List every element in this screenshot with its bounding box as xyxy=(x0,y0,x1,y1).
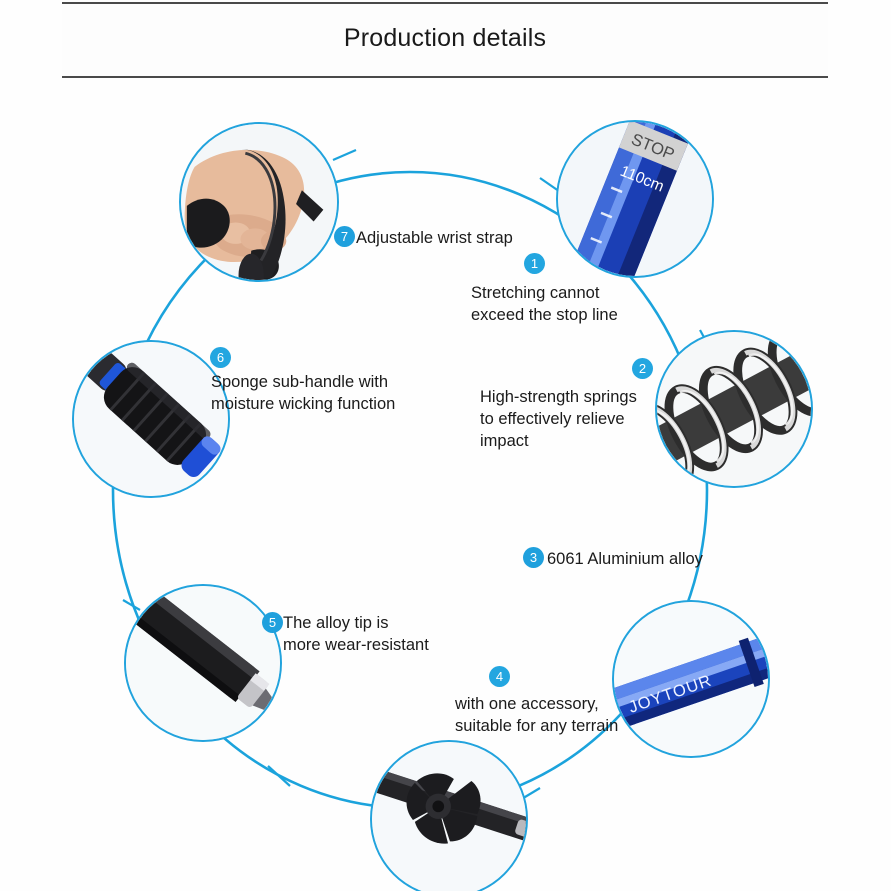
photo-terrain-basket xyxy=(370,740,528,891)
photo-stop-line: STOP 110cm xyxy=(556,120,714,278)
photo-stop-line-image: STOP 110cm xyxy=(558,122,712,276)
badge-2: 2 xyxy=(632,358,653,379)
photo-alloy-tip-image xyxy=(126,586,280,740)
photo-terrain-basket-image xyxy=(372,742,526,891)
callout-6: Sponge sub-handle with moisture wicking … xyxy=(211,371,441,415)
page-header: Production details xyxy=(62,2,828,78)
callout-5: The alloy tip is more wear-resistant xyxy=(283,612,498,656)
callout-1: Stretching cannot exceed the stop line xyxy=(471,282,686,326)
photo-wrist-strap xyxy=(179,122,339,282)
badge-3: 3 xyxy=(523,547,544,568)
photo-wrist-strap-image xyxy=(181,124,337,280)
callout-3: 6061 Aluminium alloy xyxy=(547,548,777,570)
badge-4: 4 xyxy=(489,666,510,687)
page-title: Production details xyxy=(62,24,828,53)
photo-alloy-tip xyxy=(124,584,282,742)
badge-1: 1 xyxy=(524,253,545,274)
badge-5: 5 xyxy=(262,612,283,633)
production-details-infographic: Production details xyxy=(0,0,891,891)
callout-2: High-strength springs to effectively rel… xyxy=(480,386,700,452)
callout-4: with one accessory, suitable for any ter… xyxy=(455,693,685,737)
callout-7: Adjustable wrist strap xyxy=(356,227,556,249)
badge-7: 7 xyxy=(334,226,355,247)
photo-sponge-handle-image xyxy=(74,342,228,496)
badge-6: 6 xyxy=(210,347,231,368)
photo-sponge-handle xyxy=(72,340,230,498)
